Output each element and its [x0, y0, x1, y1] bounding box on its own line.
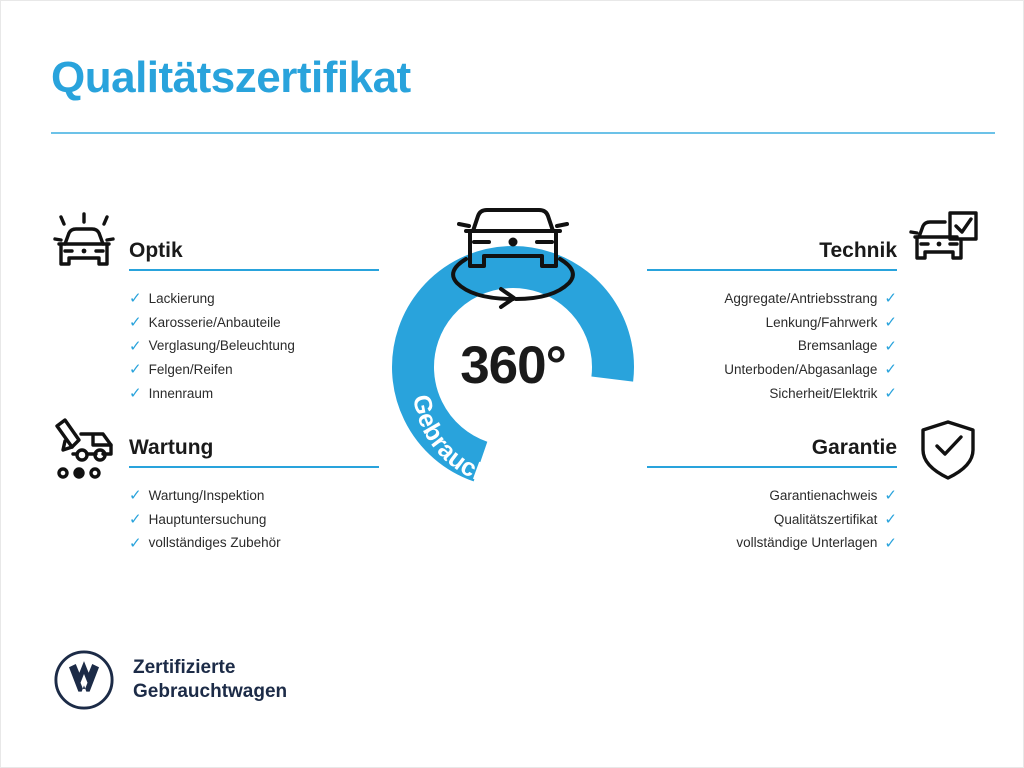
list-item-label: Aggregate/Antriebsstrang [724, 292, 877, 306]
list-item: Qualitätszertifikat ✓ [552, 508, 897, 532]
list-item-label: vollständige Unterlagen [736, 536, 877, 550]
section-list-technik: Aggregate/Antriebsstrang ✓ Lenkung/Fahrw… [552, 287, 897, 405]
check-icon: ✓ [884, 488, 897, 503]
list-item-label: Qualitätszertifikat [774, 513, 878, 527]
list-item: ✓ vollständiges Zubehör [129, 531, 474, 555]
check-icon: ✓ [884, 362, 897, 377]
list-item: ✓ Felgen/Reifen [129, 358, 474, 382]
section-technik: Technik Aggregate/Antriebsstrang ✓ Lenku… [552, 239, 897, 405]
section-list-wartung: ✓ Wartung/Inspektion ✓ Hauptuntersuchung… [129, 484, 474, 555]
shield-check-icon [909, 414, 987, 486]
list-item-label: Unterboden/Abgasanlage [724, 363, 877, 377]
footer-line-2: Gebrauchtwagen [133, 680, 287, 704]
check-icon: ✓ [884, 315, 897, 330]
list-item-label: Bremsanlage [798, 339, 878, 353]
vw-logo [53, 649, 115, 711]
car-front-shine-icon [45, 207, 123, 279]
section-heading-wartung: Wartung [129, 436, 474, 466]
section-heading-technik: Technik [552, 239, 897, 269]
list-item: ✓ Verglasung/Beleuchtung [129, 334, 474, 358]
list-item-label: Sicherheit/Elektrik [769, 387, 877, 401]
list-item: ✓ Innenraum [129, 381, 474, 405]
section-heading-optik: Optik [129, 239, 474, 269]
list-item-label: Garantienachweis [769, 489, 877, 503]
check-icon: ✓ [129, 512, 142, 527]
check-icon: ✓ [884, 536, 897, 551]
check-icon: ✓ [884, 512, 897, 527]
check-icon: ✓ [129, 339, 142, 354]
list-item-label: Innenraum [149, 387, 214, 401]
title-divider [51, 132, 995, 134]
section-garantie: Garantie Garantienachweis ✓ Qualitätszer… [552, 436, 897, 555]
list-item: Lenkung/Fahrwerk ✓ [552, 311, 897, 335]
list-item-label: Hauptuntersuchung [149, 513, 267, 527]
list-item: Bremsanlage ✓ [552, 334, 897, 358]
check-icon: ✓ [884, 339, 897, 354]
page-title: Qualitätszertifikat [51, 53, 411, 103]
list-item: vollständige Unterlagen ✓ [552, 531, 897, 555]
check-icon: ✓ [129, 362, 142, 377]
list-item-label: Wartung/Inspektion [149, 489, 265, 503]
list-item: Garantienachweis ✓ [552, 484, 897, 508]
list-item-label: vollständiges Zubehör [149, 536, 281, 550]
section-list-garantie: Garantienachweis ✓ Qualitätszertifikat ✓… [552, 484, 897, 555]
list-item-label: Lenkung/Fahrwerk [766, 316, 878, 330]
certificate-page: Qualitätszertifikat [0, 0, 1024, 768]
section-divider-technik [647, 269, 897, 271]
list-item-label: Verglasung/Beleuchtung [149, 339, 295, 353]
section-wartung: Wartung ✓ Wartung/Inspektion ✓ Hauptunte… [129, 436, 474, 555]
list-item: ✓ Karosserie/Anbauteile [129, 311, 474, 335]
section-list-optik: ✓ Lackierung ✓ Karosserie/Anbauteile ✓ V… [129, 287, 474, 405]
footer-brand: Zertifizierte Gebrauchtwagen [53, 649, 287, 711]
footer-text: Zertifizierte Gebrauchtwagen [133, 656, 287, 704]
check-icon: ✓ [884, 291, 897, 306]
section-divider-optik [129, 269, 379, 271]
footer-line-1: Zertifizierte [133, 656, 287, 680]
list-item: ✓ Hauptuntersuchung [129, 508, 474, 532]
list-item-label: Lackierung [149, 292, 215, 306]
car-front-checkbox-icon [905, 207, 983, 279]
list-item: Sicherheit/Elektrik ✓ [552, 381, 897, 405]
check-icon: ✓ [129, 536, 142, 551]
check-icon: ✓ [884, 386, 897, 401]
list-item: Unterboden/Abgasanlage ✓ [552, 358, 897, 382]
list-item: ✓ Wartung/Inspektion [129, 484, 474, 508]
list-item: ✓ Lackierung [129, 287, 474, 311]
check-icon: ✓ [129, 386, 142, 401]
check-icon: ✓ [129, 291, 142, 306]
check-icon: ✓ [129, 488, 142, 503]
section-optik: Optik ✓ Lackierung ✓ Karosserie/Anbautei… [129, 239, 474, 405]
list-item: Aggregate/Antriebsstrang ✓ [552, 287, 897, 311]
check-icon: ✓ [129, 315, 142, 330]
section-heading-garantie: Garantie [552, 436, 897, 466]
list-item-label: Karosserie/Anbauteile [149, 316, 281, 330]
section-divider-garantie [647, 466, 897, 468]
section-divider-wartung [129, 466, 379, 468]
list-item-label: Felgen/Reifen [149, 363, 233, 377]
pencil-car-service-icon [43, 414, 121, 486]
